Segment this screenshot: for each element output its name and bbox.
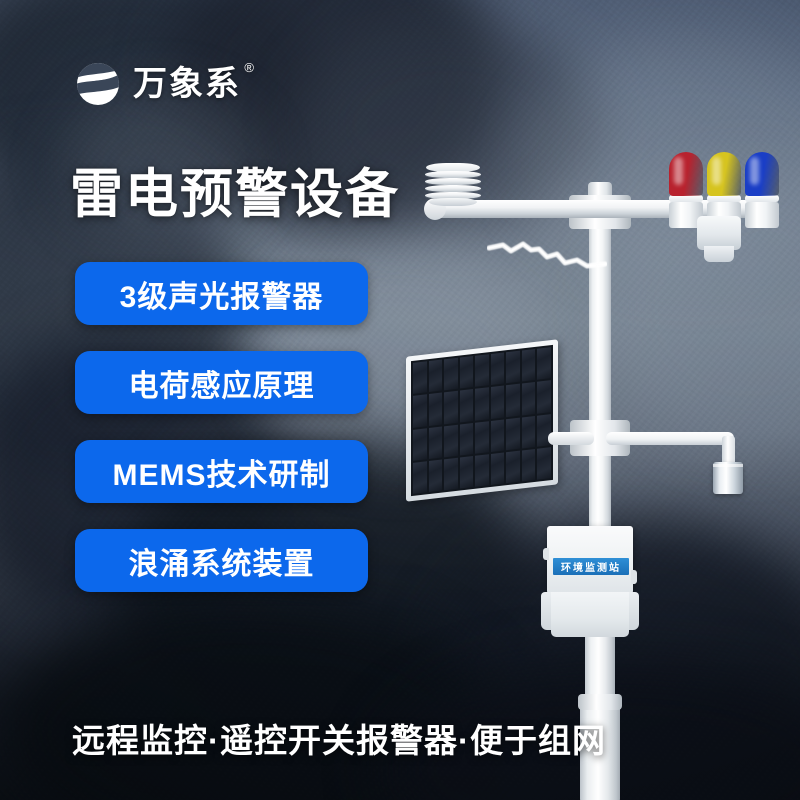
brand-logo: 万象系 ® [72, 58, 241, 110]
brand-name: 万象系 ® [133, 67, 241, 101]
feature-badge[interactable]: 电荷感应原理 [75, 351, 368, 414]
product-poster: 环境监测站 万象系 ® 雷电预警设备 3级声光报警器电荷感应原 [0, 0, 800, 800]
feature-badge[interactable]: 3级声光报警器 [75, 262, 368, 325]
registered-mark: ® [244, 61, 256, 74]
feature-badge-list: 3级声光报警器电荷感应原理MEMS技术研制浪涌系统装置 [75, 262, 368, 592]
globe-swoosh-logo-icon [72, 58, 124, 110]
page-title: 雷电预警设备 [70, 166, 400, 224]
tagline: 远程监控·遥控开关报警器·便于组网 [72, 714, 606, 762]
feature-badge[interactable]: MEMS技术研制 [75, 440, 368, 503]
feature-badge[interactable]: 浪涌系统装置 [75, 529, 368, 592]
brand-name-text: 万象系 [133, 65, 241, 103]
